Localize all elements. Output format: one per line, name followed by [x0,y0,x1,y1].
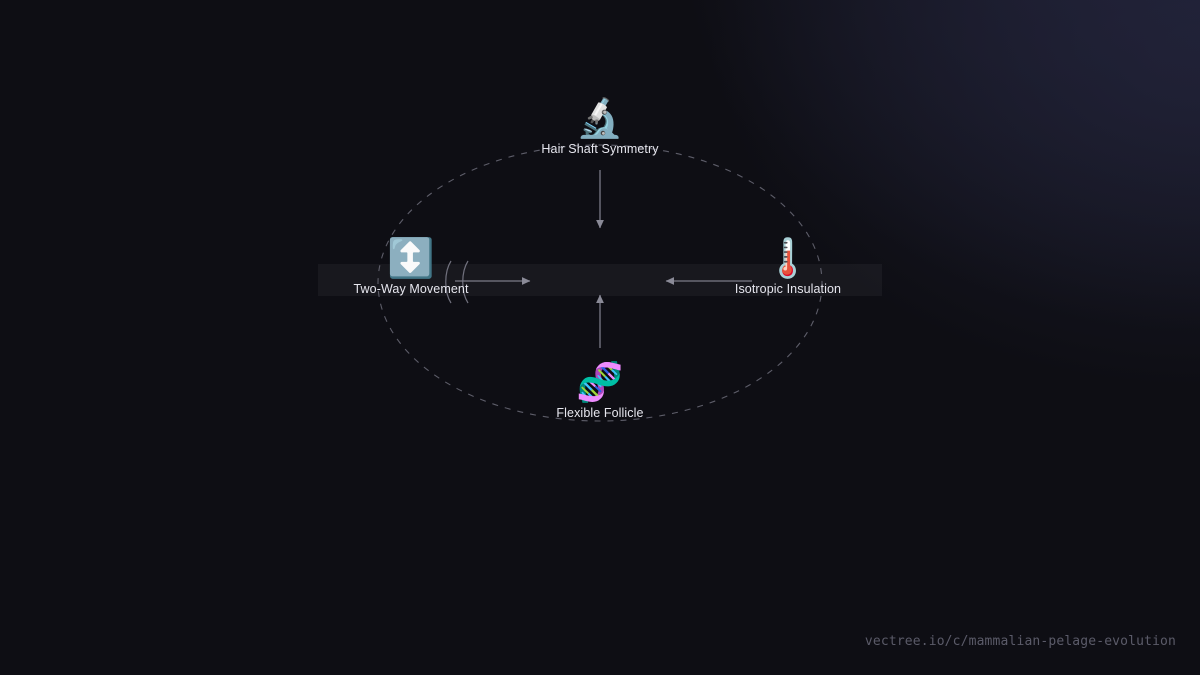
node-hair-shaft-symmetry[interactable]: 🔬 Hair Shaft Symmetry [510,96,690,157]
node-label: Flexible Follicle [510,406,690,421]
node-two-way-movement[interactable]: ↕️ Two-Way Movement [321,236,501,297]
footer: Vectree Microscopic structure and evolut… [0,460,1200,675]
node-isotropic-insulation[interactable]: 🌡️ Isotropic Insulation [698,236,878,297]
node-label: Two-Way Movement [321,282,501,297]
up-down-arrow-icon: ↕️ [321,236,501,280]
microscope-icon: 🔬 [510,96,690,140]
thermometer-icon: 🌡️ [698,236,878,280]
screenshot-root: 🔬 Hair Shaft Symmetry ↕️ Two-Way Movemen… [0,0,1200,675]
node-label: Hair Shaft Symmetry [510,142,690,157]
dna-icon: 🧬 [510,360,690,404]
node-flexible-follicle[interactable]: 🧬 Flexible Follicle [510,360,690,421]
source-url: vectree.io/c/mammalian-pelage-evolution [865,634,1176,649]
concept-map-canvas[interactable]: 🔬 Hair Shaft Symmetry ↕️ Two-Way Movemen… [0,0,1200,470]
node-label: Isotropic Insulation [698,282,878,297]
